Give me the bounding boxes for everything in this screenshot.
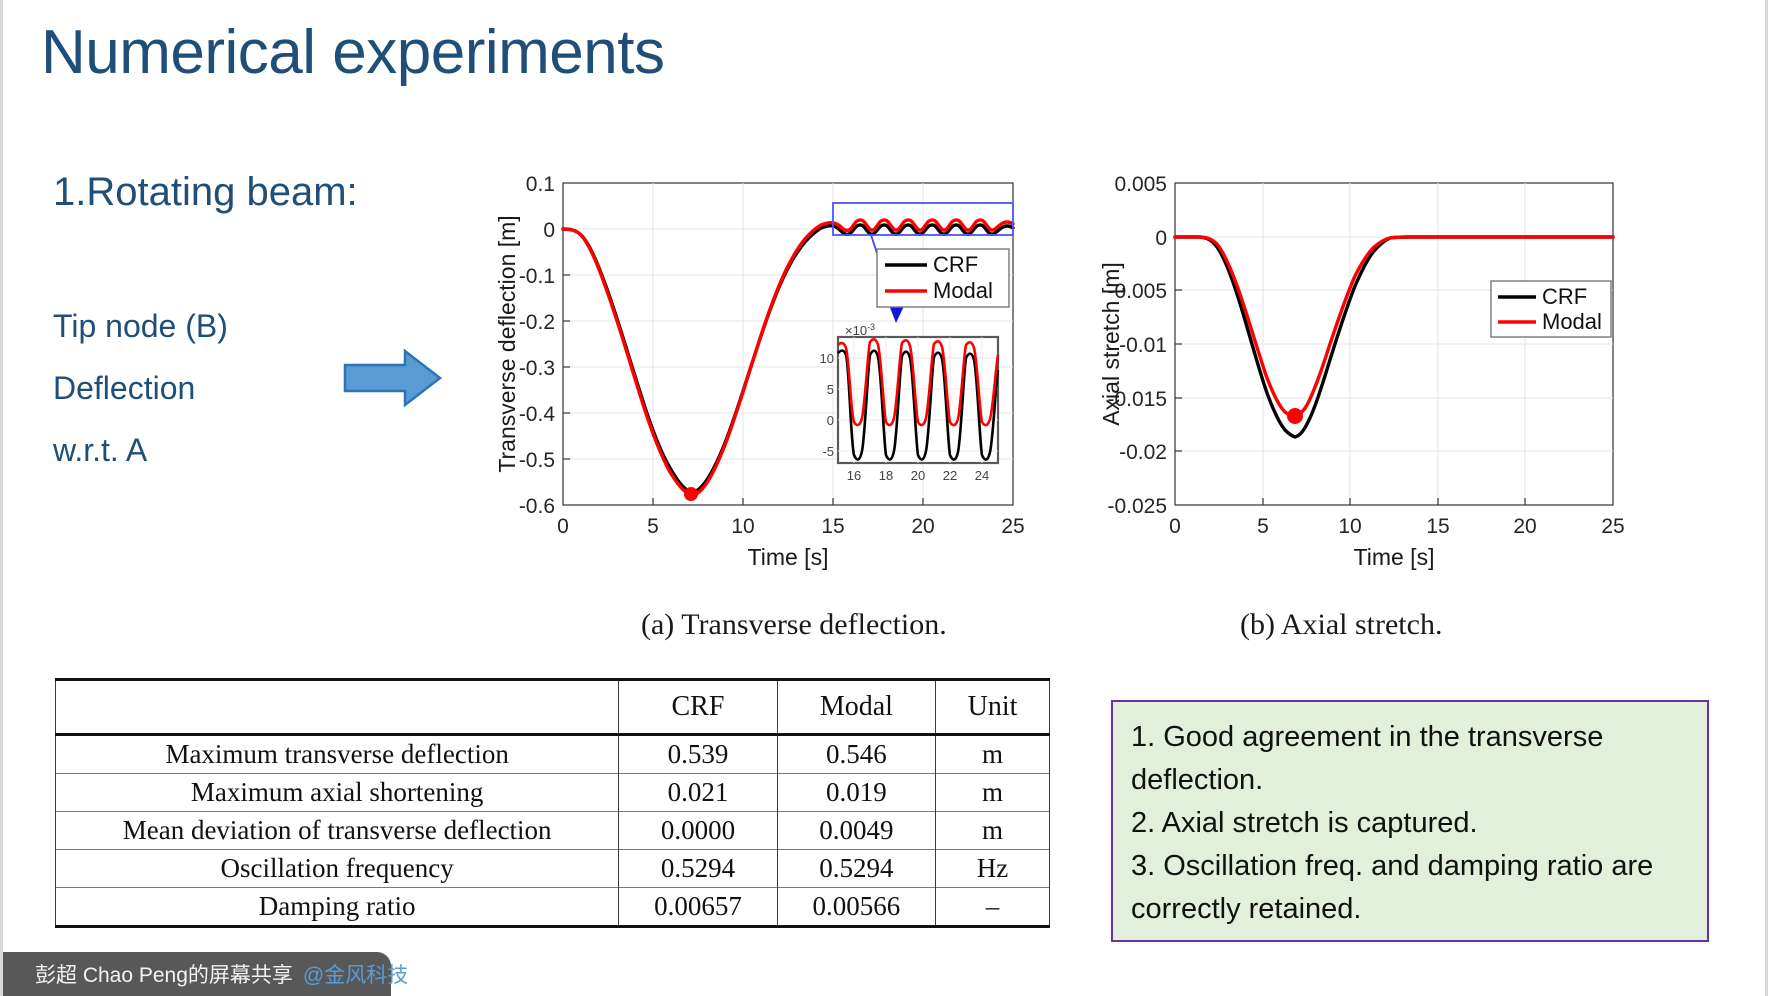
cell-modal: 0.00566 [777,888,935,927]
xtick-b-3: 15 [1426,515,1449,538]
share-org-text: @金风科技 [303,959,408,989]
page-title: Numerical experiments [41,22,665,84]
col-header-modal: Modal [777,680,935,735]
cell-unit: Hz [936,850,1050,888]
legend-label-crf: CRF [933,252,978,277]
xtick-a-4: 20 [911,515,934,538]
cell-modal: 0.019 [777,774,935,812]
xtick-a-3: 15 [821,515,844,538]
xtick-b-5: 25 [1601,515,1624,538]
xtick-b-1: 5 [1257,515,1269,538]
cell-crf: 0.5294 [619,850,777,888]
ytick-a-1: 0 [543,219,555,242]
section-heading: 1.Rotating beam: [53,170,358,215]
ytick-a-6: -0.5 [519,449,555,472]
xtick-a-0: 0 [557,515,569,538]
results-table-wrapper: CRF Modal Unit Maximum transverse deflec… [55,678,1050,928]
cell-unit: – [936,888,1050,927]
col-header-crf: CRF [619,680,777,735]
left-note-line-3: w.r.t. A [53,432,147,469]
cell-modal: 0.5294 [777,850,935,888]
ytick-a-4: -0.3 [519,357,555,380]
legend-label-modal: Modal [933,278,993,303]
x-axis-label-b: Time [s] [1354,544,1435,570]
figure-caption-a: (a) Transverse deflection. [641,608,947,642]
inset-xtick-24: 24 [975,468,989,483]
chart-axial-stretch: CRF Modal 0.005 0 -0.005 -0.01 -0.015 -0… [1093,165,1638,595]
legend-label-crf-b: CRF [1542,284,1587,309]
xtick-b-4: 20 [1513,515,1536,538]
min-marker-modal-b [1287,408,1303,424]
y-axis-label-a: Transverse deflection [m] [494,215,520,472]
inset-xtick-16: 16 [847,468,861,483]
inset-ytick-neg5: -5 [822,444,834,459]
inset-ytick-0: 0 [827,413,834,428]
conclusions-box: 1. Good agreement in the transverse defl… [1111,700,1709,942]
ytick-b-5: -0.02 [1119,441,1167,464]
chart-legend-b: CRF Modal [1491,281,1611,337]
right-arrow-icon [343,345,443,411]
xtick-a-1: 5 [647,515,659,538]
ytick-a-7: -0.6 [519,495,555,518]
cell-crf: 0.021 [619,774,777,812]
col-header-blank [56,680,619,735]
inset-xtick-18: 18 [879,468,893,483]
y-axis-label-b: Axial stretch [m] [1098,262,1124,426]
ytick-a-2: -0.1 [519,265,555,288]
legend-label-modal-b: Modal [1542,309,1602,334]
table-row: Mean deviation of transverse deflection … [56,812,1050,850]
cell-unit: m [936,774,1050,812]
chart-legend-a: CRF Modal [877,249,1009,307]
ytick-a-5: -0.4 [519,403,556,426]
row-label: Maximum transverse deflection [56,735,619,774]
ytick-b-1: 0 [1155,227,1167,250]
row-label: Damping ratio [56,888,619,927]
x-axis-label-a: Time [s] [748,544,829,570]
col-header-unit: Unit [936,680,1050,735]
conclusion-line-2: 2. Axial stretch is captured. [1131,802,1689,845]
table-row: Maximum transverse deflection 0.539 0.54… [56,735,1050,774]
slide-canvas: Numerical experiments 1.Rotating beam: T… [0,0,1768,996]
table-row: Maximum axial shortening 0.021 0.019 m [56,774,1050,812]
ytick-b-3: -0.01 [1119,334,1167,357]
inset-ytick-10: 10 [820,351,834,366]
screen-share-bar[interactable]: 彭超 Chao Peng的屏幕共享 @金风科技 [3,952,391,996]
share-owner-text: 彭超 Chao Peng的屏幕共享 [35,959,293,989]
cell-crf: 0.0000 [619,812,777,850]
ytick-b-6: -0.025 [1107,495,1167,518]
chart-transverse-deflection: ×10-3 10 5 0 -5 16 18 20 22 24 CRF Modal… [493,165,1038,595]
conclusion-line-1: 1. Good agreement in the transverse defl… [1131,716,1689,802]
cell-unit: m [936,812,1050,850]
figure-caption-b: (b) Axial stretch. [1240,608,1442,642]
xtick-b-2: 10 [1338,515,1361,538]
min-marker-modal [684,487,698,501]
cell-crf: 0.539 [619,735,777,774]
ytick-b-0: 0.005 [1114,173,1167,196]
table-row: Oscillation frequency 0.5294 0.5294 Hz [56,850,1050,888]
row-label: Mean deviation of transverse deflection [56,812,619,850]
row-label: Maximum axial shortening [56,774,619,812]
left-note-line-2: Deflection [53,370,195,407]
ytick-a-3: -0.2 [519,311,555,334]
cell-crf: 0.00657 [619,888,777,927]
table-row: Damping ratio 0.00657 0.00566 – [56,888,1050,927]
xtick-a-2: 10 [731,515,754,538]
inset-xtick-22: 22 [943,468,957,483]
inset-xtick-20: 20 [911,468,925,483]
inset-axes: ×10-3 10 5 0 -5 16 18 20 22 24 [820,322,998,483]
results-table: CRF Modal Unit Maximum transverse deflec… [55,678,1050,928]
xtick-b-0: 0 [1169,515,1181,538]
ytick-a-0: 0.1 [526,173,555,196]
row-label: Oscillation frequency [56,850,619,888]
left-note-line-1: Tip node (B) [53,308,228,345]
table-header-row: CRF Modal Unit [56,680,1050,735]
xtick-a-5: 25 [1001,515,1024,538]
conclusion-line-3: 3. Oscillation freq. and damping ratio a… [1131,845,1689,931]
cell-unit: m [936,735,1050,774]
cell-modal: 0.546 [777,735,935,774]
cell-modal: 0.0049 [777,812,935,850]
inset-ytick-5: 5 [827,382,834,397]
